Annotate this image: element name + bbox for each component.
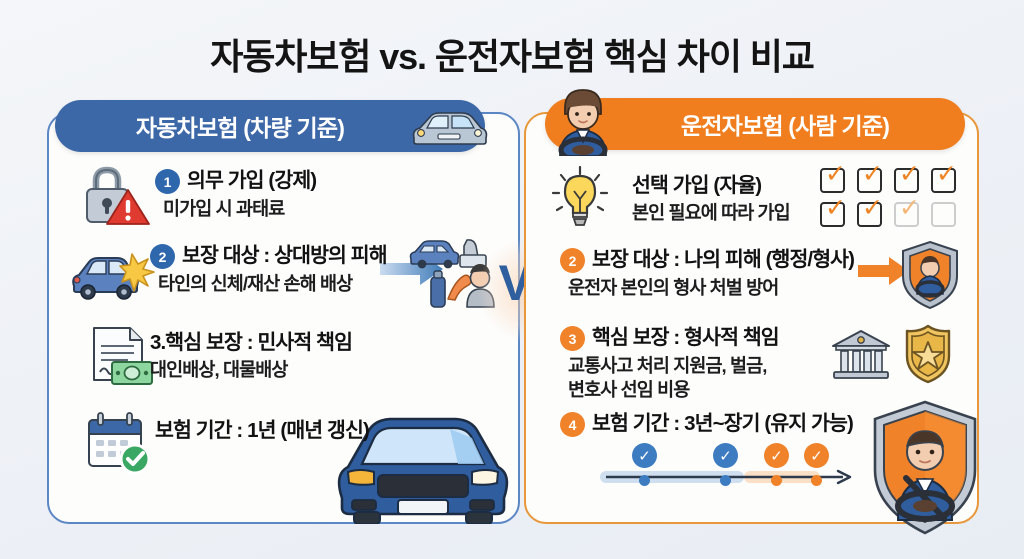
check-mark-icon: ✓ bbox=[899, 162, 920, 187]
police-badge-icon bbox=[902, 324, 954, 384]
timeline-dot-3 bbox=[771, 475, 782, 486]
checkbox-7[interactable]: ✓ bbox=[894, 202, 919, 227]
right-item-4: 4 보험 기간 : 3년~장기 (유지 가능) bbox=[560, 411, 853, 437]
left-item-3-title: 3.핵심 보장 : 민사적 책임 bbox=[150, 325, 352, 355]
check-mark-icon: ✓ bbox=[862, 162, 883, 187]
driver-shield-icon bbox=[900, 240, 960, 310]
check-mark-icon: ✓ bbox=[825, 196, 846, 221]
check-mark-icon: ✓ bbox=[825, 162, 846, 187]
left-item-4-title: 보험 기간 : 1년 (매년 갱신) bbox=[155, 413, 369, 443]
left-item-1-number: 1 bbox=[155, 169, 180, 194]
right-item-3: 3 핵심 보장 : 형사적 책임 교통사고 처리 지원금, 벌금, 변호사 선임… bbox=[560, 325, 779, 402]
left-item-1-title: 의무 가입 (강제) bbox=[187, 168, 316, 194]
right-item-4-title: 보험 기간 : 3년~장기 (유지 가능) bbox=[592, 411, 853, 437]
timeline-check-3: ✓ bbox=[764, 443, 789, 468]
page-title: 자동차보험 vs. 운전자보험 핵심 차이 비교 bbox=[0, 28, 1024, 80]
right-panel-header-label: 운전자보험 (사람 기준) bbox=[681, 107, 889, 141]
right-item-3-number: 3 bbox=[560, 326, 585, 351]
car-crash-icon bbox=[68, 248, 156, 302]
timeline-dot-1 bbox=[639, 475, 650, 486]
right-item-3-title: 핵심 보장 : 형사적 책임 bbox=[592, 325, 779, 351]
left-panel-header-label: 자동차보험 (차량 기준) bbox=[136, 109, 344, 143]
left-item-3-sub: 대인배상, 대물배상 bbox=[150, 358, 287, 382]
timeline-check-4: ✓ bbox=[804, 443, 829, 468]
checkbox-grid[interactable]: ✓ ✓ ✓ ✓ ✓ ✓ ✓ bbox=[820, 168, 963, 232]
left-item-2-title: 보장 대상 : 상대방의 피해 bbox=[182, 243, 387, 269]
right-item-2-title: 보장 대상 : 나의 피해 (행정/형사) bbox=[592, 247, 854, 273]
checkbox-5[interactable]: ✓ bbox=[820, 202, 845, 227]
checkbox-2[interactable]: ✓ bbox=[857, 168, 882, 193]
right-item-3-sub-line2: 변호사 선임 비용 bbox=[560, 378, 689, 402]
left-item-2: 2 보장 대상 : 상대방의 피해 타인의 신체/재산 손해 배상 bbox=[150, 243, 387, 296]
right-item-1-sub: 본인 필요에 따라 가입 bbox=[632, 201, 790, 225]
left-item-3: 3.핵심 보장 : 민사적 책임 대인배상, 대물배상 bbox=[150, 325, 352, 382]
right-item-1: 선택 가입 (자율) 본인 필요에 따라 가입 bbox=[632, 168, 790, 225]
right-item-1-title: 선택 가입 (자율) bbox=[632, 168, 761, 198]
courthouse-icon bbox=[830, 328, 892, 382]
timeline-icon: ✓ ✓ ✓ ✓ bbox=[600, 443, 862, 487]
left-item-2-number: 2 bbox=[150, 244, 175, 269]
right-item-3-sub-line1: 교통사고 처리 지원금, 벌금, bbox=[560, 354, 767, 378]
lightbulb-icon bbox=[548, 165, 612, 229]
timeline-dot-4 bbox=[811, 475, 822, 486]
left-item-4: 보험 기간 : 1년 (매년 갱신) bbox=[155, 413, 369, 443]
driver-shield-large-icon bbox=[870, 400, 980, 535]
padlock-warning-icon bbox=[80, 162, 150, 228]
right-item-2: 2 보장 대상 : 나의 피해 (행정/형사) 운전자 본인의 형사 처벌 방어 bbox=[560, 247, 854, 300]
document-money-icon bbox=[88, 324, 156, 388]
checkbox-3[interactable]: ✓ bbox=[894, 168, 919, 193]
right-item-2-number: 2 bbox=[560, 248, 585, 273]
timeline-check-2: ✓ bbox=[713, 443, 738, 468]
car-icon bbox=[408, 108, 490, 150]
left-item-1-sub: 미가입 시 과태료 bbox=[155, 197, 284, 221]
checkbox-4[interactable]: ✓ bbox=[931, 168, 956, 193]
check-mark-icon: ✓ bbox=[899, 196, 920, 221]
left-item-1: 1 의무 가입 (강제) 미가입 시 과태료 bbox=[155, 168, 316, 221]
timeline-check-1: ✓ bbox=[632, 443, 657, 468]
checkbox-1[interactable]: ✓ bbox=[820, 168, 845, 193]
timeline-dot-2 bbox=[720, 475, 731, 486]
right-item-2-sub: 운전자 본인의 형사 처벌 방어 bbox=[560, 276, 778, 300]
calendar-check-icon bbox=[83, 410, 155, 478]
checkbox-8[interactable] bbox=[931, 202, 956, 227]
check-mark-icon: ✓ bbox=[862, 196, 883, 221]
check-mark-icon: ✓ bbox=[936, 162, 957, 187]
left-item-2-sub: 타인의 신체/재산 손해 배상 bbox=[150, 272, 352, 296]
right-item-4-number: 4 bbox=[560, 412, 585, 437]
checkbox-6[interactable]: ✓ bbox=[857, 202, 882, 227]
driver-avatar-icon bbox=[552, 86, 614, 156]
